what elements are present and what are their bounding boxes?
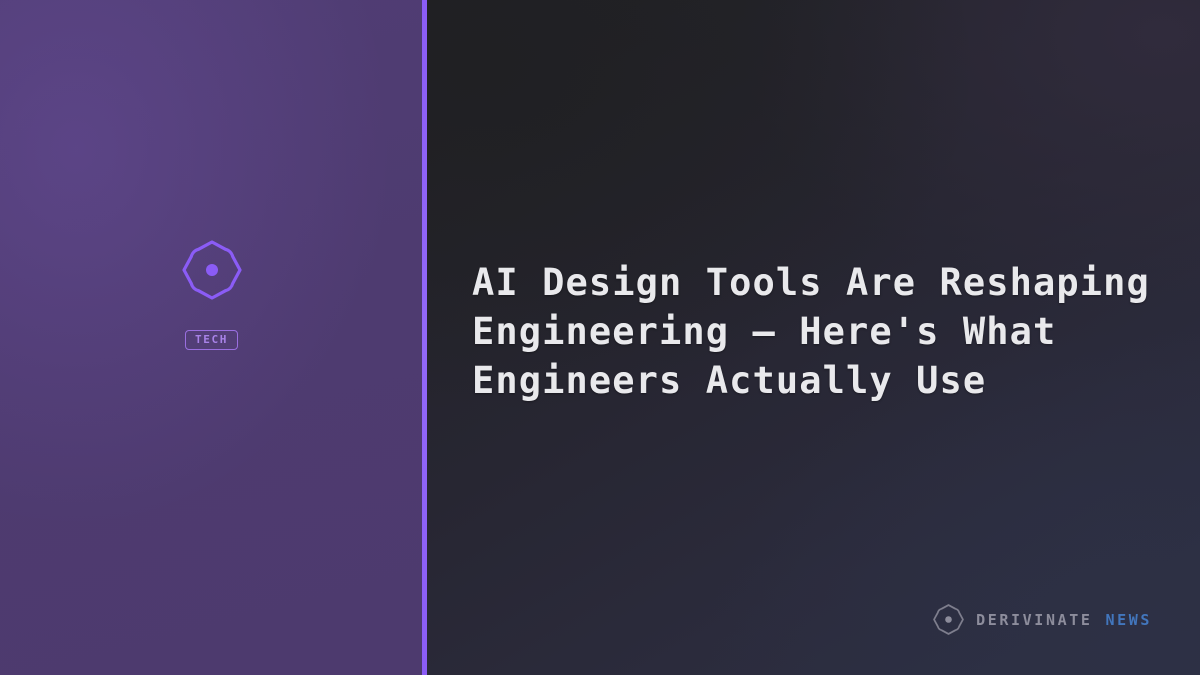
headline-line-2: Engineering — Here's What <box>472 307 1150 356</box>
left-brand-panel: TECH <box>0 0 423 675</box>
accent-divider <box>422 0 427 675</box>
brand-suffix: NEWS <box>1105 611 1152 629</box>
brand-footer: DERIVINATE NEWS <box>932 603 1152 636</box>
category-badge: TECH <box>185 330 238 350</box>
left-panel-content: TECH <box>0 238 423 350</box>
octagon-dot-mark-icon-small <box>932 603 965 636</box>
brand-name: DERIVINATE <box>976 611 1092 629</box>
headline-line-3: Engineers Actually Use <box>472 356 1150 405</box>
social-card: TECH AI Design Tools Are Reshaping Engin… <box>0 0 1200 675</box>
right-content-panel: AI Design Tools Are Reshaping Engineerin… <box>423 0 1200 675</box>
category-badge-label: TECH <box>195 334 228 345</box>
octagon-dot-mark-icon <box>180 238 244 302</box>
headline: AI Design Tools Are Reshaping Engineerin… <box>472 258 1150 405</box>
headline-line-1: AI Design Tools Are Reshaping <box>472 258 1150 307</box>
